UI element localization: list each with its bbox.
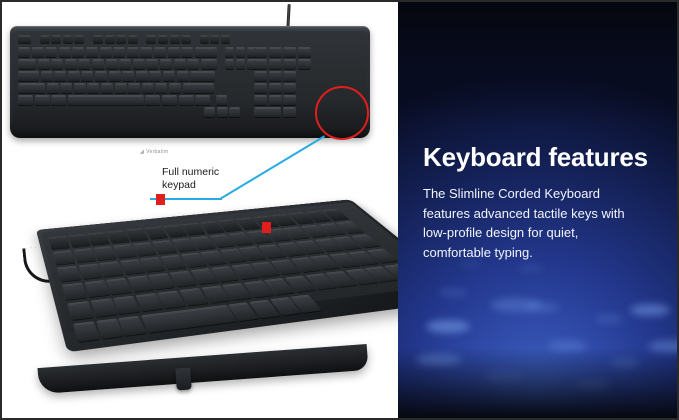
keyboard-key bbox=[60, 83, 72, 93]
keyboard-key bbox=[86, 47, 98, 57]
keyboard-key bbox=[225, 59, 234, 69]
keyboard-key bbox=[115, 83, 127, 93]
bokeh-blob bbox=[438, 288, 468, 297]
panel-top-vignette bbox=[398, 2, 677, 122]
keyboard-key bbox=[283, 107, 296, 117]
keyboard-key bbox=[195, 95, 210, 105]
keyboard-key bbox=[254, 59, 267, 69]
keyboard-key bbox=[133, 59, 145, 69]
keyboard-key bbox=[179, 95, 194, 105]
bokeh-blob bbox=[426, 320, 470, 333]
key-grid-angled bbox=[36, 199, 350, 230]
keyboard-key bbox=[73, 248, 96, 263]
keyboard-key bbox=[41, 71, 53, 81]
key-row bbox=[254, 107, 297, 117]
keyboard-key bbox=[63, 35, 73, 43]
keyboard-key bbox=[68, 95, 144, 105]
keyboard-key bbox=[146, 59, 158, 69]
keyboard-key bbox=[187, 59, 199, 69]
keyboard-key bbox=[68, 234, 90, 247]
keyboard-key bbox=[18, 83, 45, 93]
panel-bottom-vignette bbox=[398, 348, 677, 418]
keyboard-key bbox=[236, 47, 245, 57]
keyboard-key bbox=[51, 35, 61, 43]
keyboard-key bbox=[254, 83, 267, 93]
keyboard-front-edge bbox=[37, 344, 368, 394]
keyboard-key bbox=[254, 95, 267, 105]
key-row bbox=[18, 71, 217, 81]
keyboard-key bbox=[169, 83, 181, 93]
keyboard-key bbox=[149, 71, 161, 81]
key-row bbox=[216, 95, 229, 105]
keyboard-key bbox=[95, 71, 107, 81]
keyboard-key bbox=[67, 301, 94, 320]
keyboard-key bbox=[51, 59, 63, 69]
keyboard-key bbox=[57, 266, 81, 282]
keyboard-key bbox=[18, 35, 31, 43]
key-row bbox=[18, 59, 257, 69]
keyboard-key bbox=[298, 59, 311, 69]
feature-text-panel: Keyboard features The Slimline Corded Ke… bbox=[398, 2, 677, 418]
keyboard-key bbox=[78, 59, 90, 69]
key-row bbox=[254, 47, 312, 57]
keyboard-key bbox=[106, 59, 118, 69]
keyboard-key bbox=[62, 283, 87, 300]
keyboard-key bbox=[283, 47, 296, 57]
keyboard-key bbox=[52, 250, 75, 265]
keyboard-key bbox=[32, 47, 44, 57]
key-row bbox=[18, 95, 212, 105]
keyboard-key bbox=[269, 59, 282, 69]
keyboard-key bbox=[195, 47, 217, 57]
keyboard-key bbox=[119, 59, 131, 69]
brand-logo: ◢Verbatim bbox=[140, 149, 168, 155]
keyboard-key bbox=[40, 35, 50, 43]
keyboard-key bbox=[254, 47, 267, 57]
keyboard-key bbox=[78, 264, 103, 280]
keyboard-key bbox=[54, 71, 66, 81]
keyboard-key bbox=[155, 83, 167, 93]
keyboard-key bbox=[146, 35, 156, 43]
bokeh-blob bbox=[594, 314, 624, 324]
product-photo-panel: ◢Verbatim Full numeric keypad Adjustable… bbox=[2, 2, 398, 418]
keyboard-key bbox=[181, 35, 191, 43]
keyboard-key bbox=[163, 71, 175, 81]
keyboard-key bbox=[47, 83, 59, 93]
keyboard-key bbox=[45, 47, 57, 57]
keyboard-key bbox=[113, 47, 125, 57]
keyboard-key bbox=[154, 47, 166, 57]
keyboard-key bbox=[74, 35, 84, 43]
keyboard-key bbox=[190, 71, 215, 81]
keyboard-key bbox=[127, 47, 139, 57]
keyboard-key bbox=[168, 47, 180, 57]
keyboard-key bbox=[170, 35, 180, 43]
bokeh-blob bbox=[630, 304, 670, 316]
keyboard-key bbox=[254, 107, 281, 117]
keyboard-key bbox=[35, 95, 50, 105]
keyboard-key bbox=[101, 83, 113, 93]
keyboard-chassis-angled bbox=[36, 199, 398, 352]
keyboard-key bbox=[87, 83, 99, 93]
key-row bbox=[18, 83, 215, 93]
keyboard-key bbox=[128, 35, 138, 43]
keyboard-key bbox=[122, 71, 134, 81]
keyboard-key bbox=[269, 71, 282, 81]
angled-keyboard-view bbox=[8, 218, 388, 398]
keyboard-key bbox=[183, 83, 214, 93]
keyboard-key bbox=[51, 95, 66, 105]
keyboard-key bbox=[74, 83, 86, 93]
keyboard-key bbox=[18, 59, 36, 69]
keyboard-key bbox=[18, 95, 33, 105]
key-row bbox=[254, 83, 298, 93]
keyboard-key bbox=[87, 232, 110, 245]
keyboard-key bbox=[18, 71, 39, 81]
keyboard-key bbox=[229, 107, 240, 117]
keyboard-key bbox=[81, 71, 93, 81]
keyboard-key bbox=[181, 47, 193, 57]
keyboard-key bbox=[128, 83, 140, 93]
flat-keyboard-top-view: ◢Verbatim bbox=[10, 26, 370, 144]
key-row bbox=[254, 71, 298, 81]
keyboard-key bbox=[298, 47, 311, 57]
keyboard-key bbox=[73, 321, 100, 342]
callout-marker-tiltlegs bbox=[262, 222, 271, 233]
keyboard-key bbox=[68, 71, 80, 81]
key-row bbox=[18, 35, 232, 43]
keyboard-key bbox=[210, 35, 219, 43]
numpad-highlight-circle-icon bbox=[315, 86, 369, 140]
keyboard-key bbox=[221, 35, 230, 43]
keyboard-key bbox=[216, 95, 227, 105]
keyboard-key bbox=[269, 47, 282, 57]
verbatim-mark-icon: ◢ bbox=[140, 149, 144, 155]
keyboard-key bbox=[269, 83, 282, 93]
keyboard-key bbox=[105, 35, 115, 43]
keyboard-key bbox=[201, 59, 217, 69]
brand-logo-text: Verbatim bbox=[146, 149, 168, 155]
panel-heading: Keyboard features bbox=[423, 142, 673, 173]
keyboard-key bbox=[142, 83, 154, 93]
keyboard-key bbox=[254, 71, 267, 81]
key-row bbox=[204, 107, 242, 117]
keyboard-key bbox=[38, 59, 50, 69]
keyboard-key bbox=[18, 47, 30, 57]
keyboard-key bbox=[59, 47, 71, 57]
callout-label-numeric-keypad: Full numeric keypad bbox=[162, 166, 219, 192]
callout-leader-diagonal-numpad bbox=[219, 135, 325, 200]
tilt-leg-icon bbox=[175, 368, 191, 391]
keyboard-key bbox=[225, 47, 234, 57]
product-feature-image: ◢Verbatim Full numeric keypad Adjustable… bbox=[0, 0, 679, 420]
keyboard-key bbox=[200, 35, 209, 43]
keyboard-key bbox=[48, 236, 70, 250]
keyboard-key bbox=[158, 35, 168, 43]
keyboard-key bbox=[283, 95, 296, 105]
keyboard-key bbox=[174, 59, 186, 69]
bokeh-blob bbox=[526, 302, 560, 313]
keyboard-key bbox=[109, 71, 121, 81]
bokeh-blob bbox=[518, 264, 544, 272]
keyboard-key bbox=[136, 71, 148, 81]
keyboard-key bbox=[236, 59, 245, 69]
keyboard-key bbox=[93, 35, 103, 43]
keyboard-key bbox=[65, 59, 77, 69]
keyboard-key bbox=[283, 59, 296, 69]
keyboard-key bbox=[283, 83, 296, 93]
key-row bbox=[254, 95, 298, 105]
panel-body-text: The Slimline Corded Keyboard features ad… bbox=[423, 184, 628, 262]
keyboard-key bbox=[283, 71, 296, 81]
keyboard-key bbox=[177, 71, 189, 81]
keyboard-key bbox=[162, 95, 177, 105]
keyboard-key bbox=[140, 47, 152, 57]
keyboard-key bbox=[145, 95, 160, 105]
callout-marker-numpad bbox=[156, 194, 165, 205]
keyboard-key bbox=[92, 59, 104, 69]
keyboard-key bbox=[204, 107, 215, 117]
keyboard-key bbox=[72, 47, 84, 57]
keyboard-key bbox=[116, 35, 126, 43]
key-row bbox=[254, 59, 312, 69]
keyboard-key bbox=[269, 95, 282, 105]
keyboard-key bbox=[100, 47, 112, 57]
keyboard-key bbox=[217, 107, 228, 117]
key-row bbox=[18, 47, 257, 57]
keyboard-key bbox=[160, 59, 172, 69]
